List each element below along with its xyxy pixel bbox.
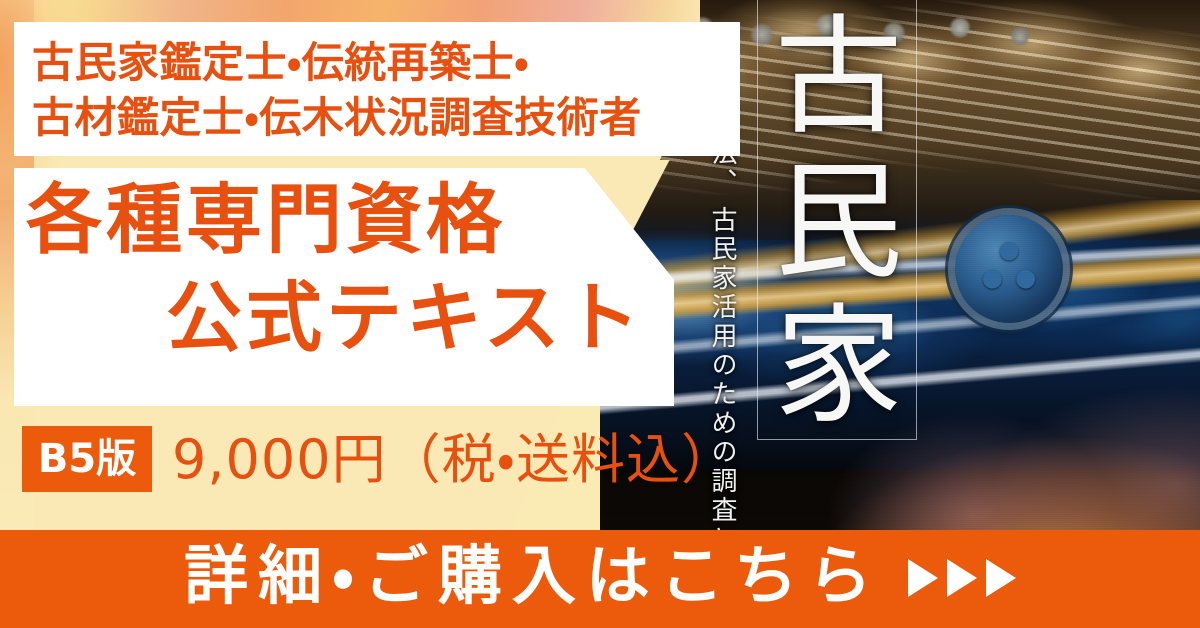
chevron-right-icon-1 bbox=[908, 559, 938, 597]
cta-arrow-group bbox=[908, 559, 1016, 597]
qualifications-line-2: 古材鑑定士・伝木状況調査技術者 bbox=[32, 91, 642, 146]
cover-title-char-1: 古 bbox=[766, 6, 911, 151]
qualifications-text: 古民家鑑定士・伝統再築士・ 古材鑑定士・伝木状況調査技術者 bbox=[32, 36, 642, 145]
main-title-line-1: 各種専門資格 bbox=[26, 182, 506, 258]
cta-bar[interactable]: 詳細・ご購入はこちら bbox=[0, 530, 1200, 628]
chevron-right-icon-3 bbox=[986, 559, 1016, 597]
price-text: 9,000円（税・送料込） bbox=[172, 430, 736, 489]
qualifications-panel: 古民家鑑定士・伝統再築士・ 古材鑑定士・伝木状況調査技術者 bbox=[14, 22, 740, 156]
format-badge-b5: B5版 bbox=[22, 426, 152, 492]
cta-label: 詳細・ご購入はこちら bbox=[184, 545, 882, 609]
chevron-right-icon-2 bbox=[947, 559, 977, 597]
promo-banner[interactable]: 古 民 家 伝統構法、 古民家活用のための調査と再生の 古民家鑑定士・伝統再築士… bbox=[0, 0, 1200, 628]
main-title-line-2: 公式テキスト bbox=[166, 280, 644, 356]
cover-title-char-3: 家 bbox=[766, 295, 911, 440]
cover-title-vertical: 古 民 家 bbox=[766, 6, 911, 440]
cover-title-char-2: 民 bbox=[766, 151, 911, 296]
qualifications-line-1: 古民家鑑定士・伝統再築士・ bbox=[32, 36, 642, 91]
